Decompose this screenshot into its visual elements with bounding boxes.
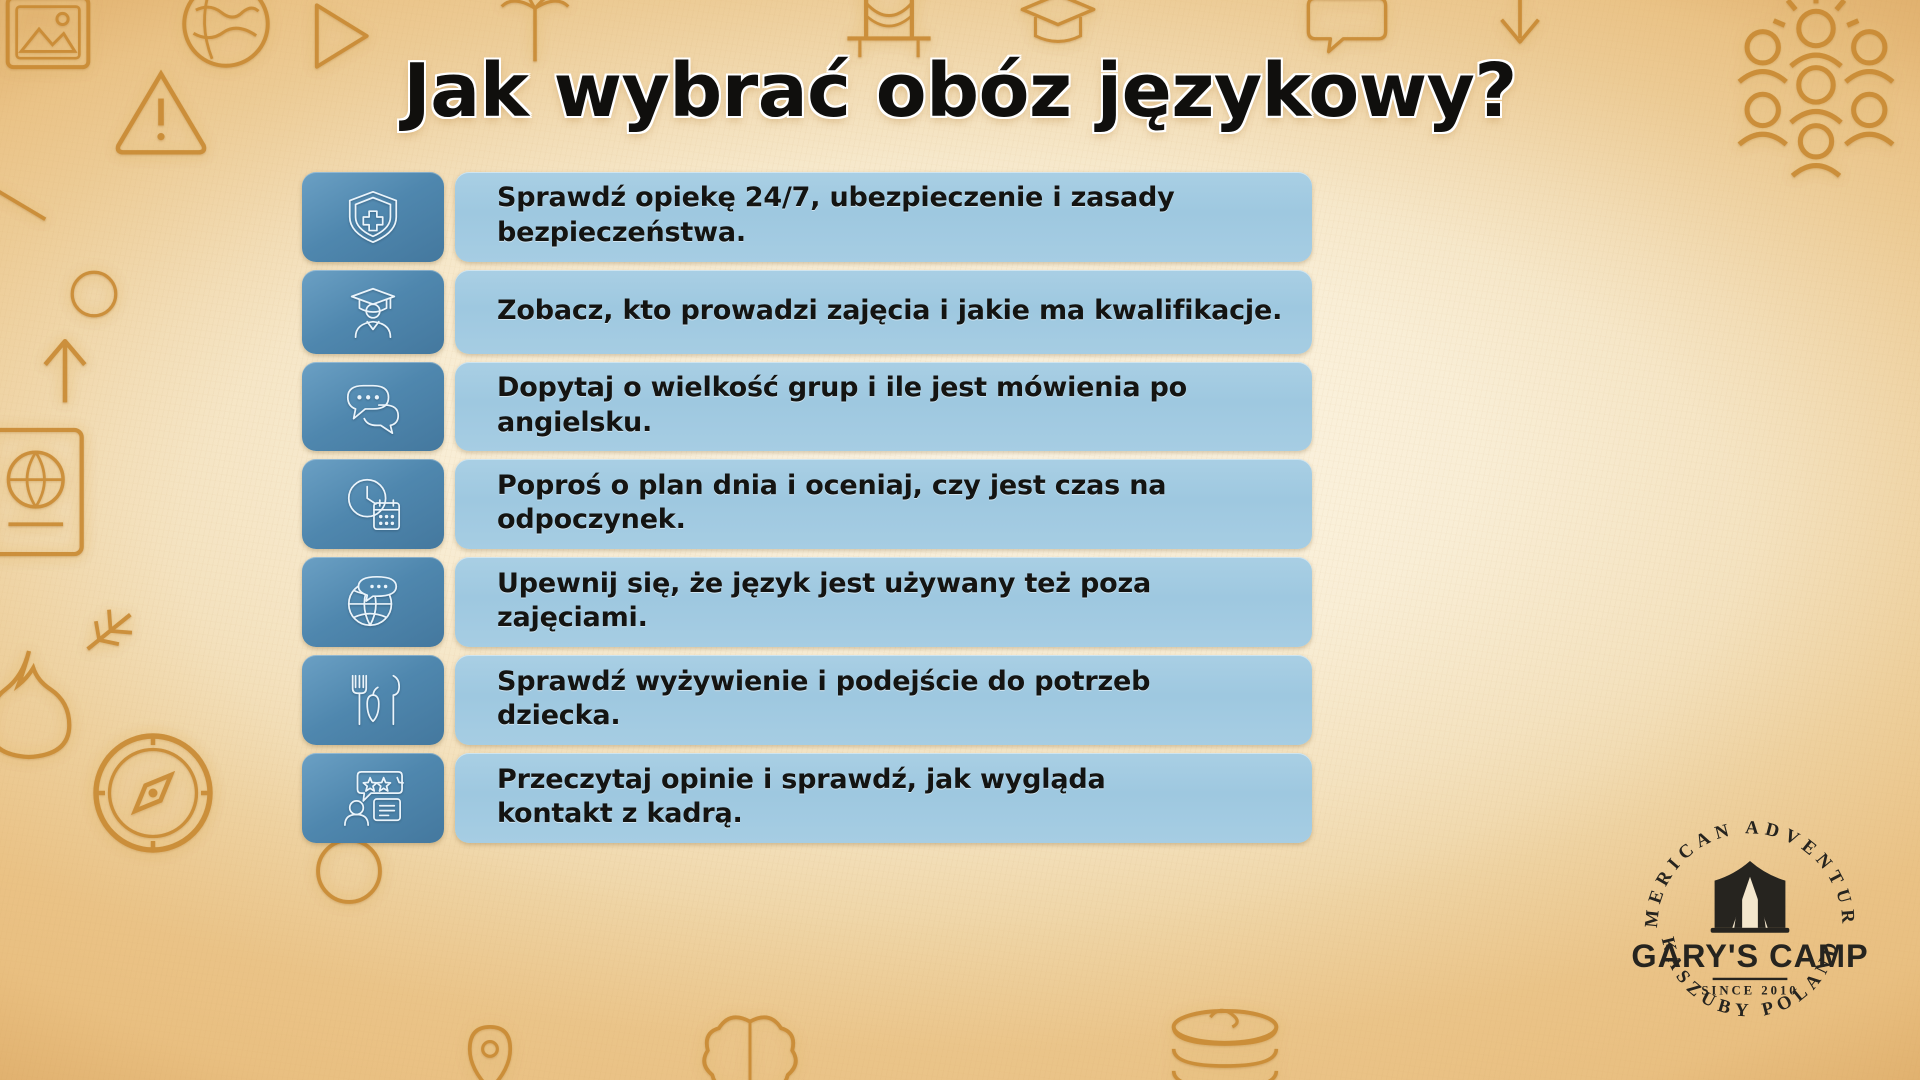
flame-icon bbox=[0, 636, 82, 772]
leaf-icon bbox=[66, 590, 152, 672]
meal-cutlery-icon bbox=[342, 669, 404, 731]
tip-pill: Przeczytaj opinie i sprawdź, jak wygląda… bbox=[455, 753, 1312, 843]
tip-text: Upewnij się, że język jest używany też p… bbox=[497, 567, 1151, 636]
review-stars-icon-tile bbox=[302, 753, 444, 843]
page-title: Jak wybrać obóz językowy? bbox=[403, 48, 1517, 134]
brand-logo: AMERICAN ADVENTURE GARY'S CAMP SINCE 201… bbox=[1632, 800, 1868, 1036]
tip-pill: Poproś o plan dnia i oceniaj, czy jest c… bbox=[455, 459, 1312, 549]
circle-outline-icon bbox=[62, 262, 126, 326]
speech-bubbles-icon bbox=[342, 376, 404, 438]
tip-text: Przeczytaj opinie i sprawdź, jak wygląda… bbox=[497, 763, 1106, 832]
pancake-stack-icon bbox=[1146, 1000, 1304, 1080]
graduate-teacher-icon bbox=[342, 281, 404, 343]
passport-icon bbox=[0, 420, 100, 564]
tips-list: Sprawdź opiekę 24/7, ubezpieczenie i zas… bbox=[302, 172, 1312, 843]
location-pin-icon bbox=[444, 1014, 536, 1080]
shield-health-icon bbox=[342, 186, 404, 248]
review-stars-icon bbox=[342, 767, 404, 829]
tip-pill: Upewnij się, że język jest używany też p… bbox=[455, 557, 1312, 647]
list-item: Przeczytaj opinie i sprawdź, jak wygląda… bbox=[302, 753, 1312, 843]
diagonal-stroke-icon bbox=[0, 176, 62, 232]
gary-s-camp-logo: AMERICAN ADVENTURE GARY'S CAMP SINCE 201… bbox=[1632, 800, 1868, 1036]
globe-chat-icon-tile bbox=[302, 557, 444, 647]
brain-icon bbox=[694, 1006, 806, 1080]
arrow-up-icon bbox=[20, 318, 110, 422]
list-item: Poproś o plan dnia i oceniaj, czy jest c… bbox=[302, 459, 1312, 549]
list-item: Upewnij się, że język jest używany też p… bbox=[302, 557, 1312, 647]
list-item: Dopytaj o wielkość grup i ile jest mówie… bbox=[302, 362, 1312, 451]
globe-chat-icon bbox=[342, 571, 404, 633]
speech-bubbles-icon-tile bbox=[302, 362, 444, 451]
clock-calendar-icon-tile bbox=[302, 459, 444, 549]
list-item: Zobacz, kto prowadzi zajęcia i jakie ma … bbox=[302, 270, 1312, 354]
compass-icon bbox=[78, 718, 228, 868]
tent-icon bbox=[1711, 861, 1790, 933]
page-title-wrap: Jak wybrać obóz językowy? bbox=[0, 48, 1920, 134]
list-item: Sprawdź opiekę 24/7, ubezpieczenie i zas… bbox=[302, 172, 1312, 262]
tip-text: Dopytaj o wielkość grup i ile jest mówie… bbox=[497, 371, 1286, 440]
tip-text: Zobacz, kto prowadzi zajęcia i jakie ma … bbox=[497, 294, 1282, 329]
shield-health-icon-tile bbox=[302, 172, 444, 262]
tip-text: Sprawdź wyżywienie i podejście do potrze… bbox=[497, 665, 1150, 734]
tip-pill: Sprawdź wyżywienie i podejście do potrze… bbox=[455, 655, 1312, 745]
tip-pill: Dopytaj o wielkość grup i ile jest mówie… bbox=[455, 362, 1312, 451]
tip-pill: Sprawdź opiekę 24/7, ubezpieczenie i zas… bbox=[455, 172, 1312, 262]
list-item: Sprawdź wyżywienie i podejście do potrze… bbox=[302, 655, 1312, 745]
infographic-poster: Jak wybrać obóz językowy? Sprawdź opiekę… bbox=[0, 0, 1920, 1080]
clock-calendar-icon bbox=[342, 473, 404, 535]
graduate-teacher-icon-tile bbox=[302, 270, 444, 354]
meal-cutlery-icon-tile bbox=[302, 655, 444, 745]
tip-text: Poproś o plan dnia i oceniaj, czy jest c… bbox=[497, 469, 1166, 538]
tip-text: Sprawdź opiekę 24/7, ubezpieczenie i zas… bbox=[497, 181, 1175, 250]
tip-pill: Zobacz, kto prowadzi zajęcia i jakie ma … bbox=[455, 270, 1312, 354]
